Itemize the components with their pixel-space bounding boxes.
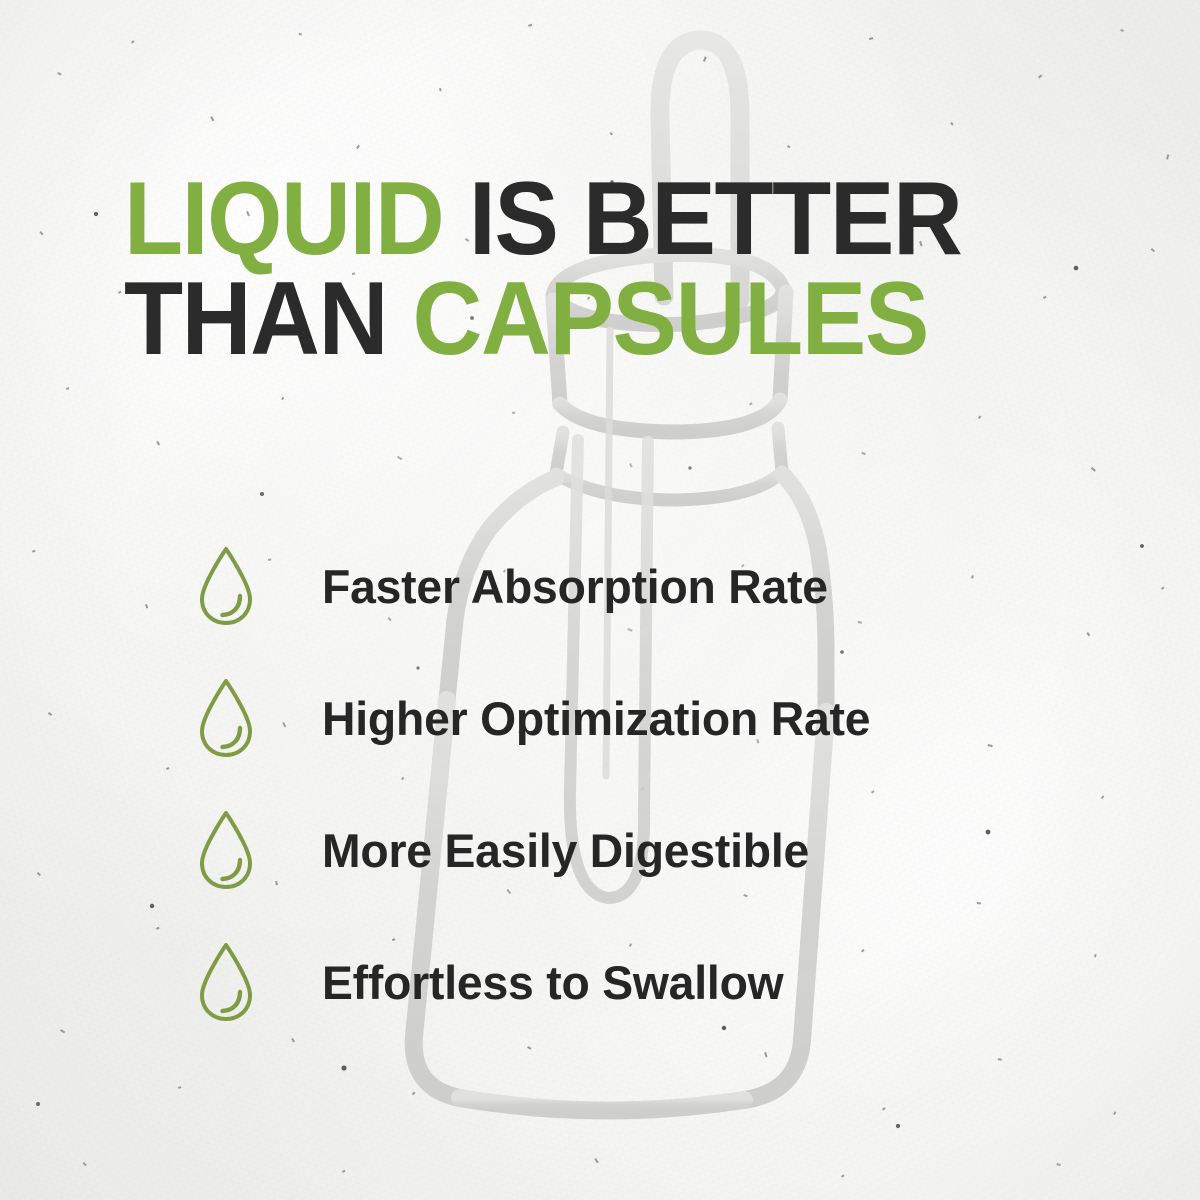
headline-word-liquid: LIQUID — [124, 161, 443, 277]
list-item: Higher Optimization Rate — [196, 652, 1096, 784]
product-benefits-infographic: LIQUID IS BETTER THAN CAPSULES Faster Ab… — [0, 0, 1200, 1200]
list-item-label: More Easily Digestible — [322, 823, 809, 878]
list-item: Faster Absorption Rate — [196, 520, 1096, 652]
list-item-label: Effortless to Swallow — [322, 955, 783, 1010]
water-drop-icon — [196, 677, 256, 759]
headline-text-than: THAN — [124, 261, 413, 377]
headline-line-2: THAN CAPSULES — [124, 270, 1045, 370]
water-drop-icon — [196, 809, 256, 891]
list-item: Effortless to Swallow — [196, 916, 1096, 1048]
headline-word-capsules: CAPSULES — [413, 261, 929, 377]
headline-text-is-better: IS BETTER — [443, 161, 961, 277]
list-item: More Easily Digestible — [196, 784, 1096, 916]
list-item-label: Higher Optimization Rate — [322, 691, 870, 746]
water-drop-icon — [196, 941, 256, 1023]
benefit-list: Faster Absorption Rate Higher Optimizati… — [196, 520, 1096, 1048]
water-drop-icon — [196, 545, 256, 627]
headline-line-1: LIQUID IS BETTER — [124, 170, 1045, 270]
headline-block: LIQUID IS BETTER THAN CAPSULES — [124, 170, 1114, 370]
list-item-label: Faster Absorption Rate — [322, 559, 828, 614]
